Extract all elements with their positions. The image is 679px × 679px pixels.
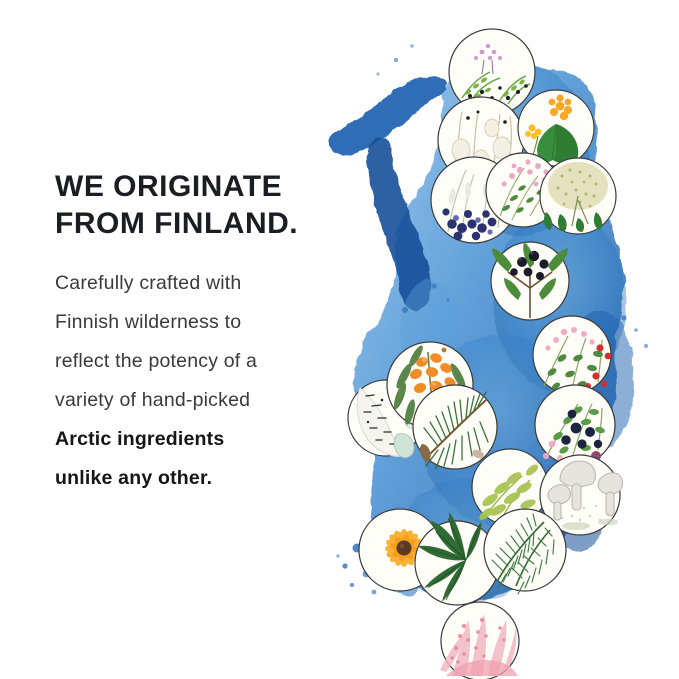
ingredient-circle-meadowsweet	[540, 158, 616, 234]
ingredient-circle-crowberry-spruce	[491, 242, 569, 320]
ingredient-circle-pine-branch	[413, 385, 497, 469]
ingredient-circle-bilberry	[535, 385, 615, 465]
ingredient-circle-pink-algae	[440, 602, 519, 679]
promo-banner: WE ORIGINATE FROM FINLAND. Carefully cra…	[0, 0, 679, 679]
ingredient-circle-lingonberry-flower	[533, 316, 611, 394]
watercolor-finland-map	[0, 0, 679, 679]
